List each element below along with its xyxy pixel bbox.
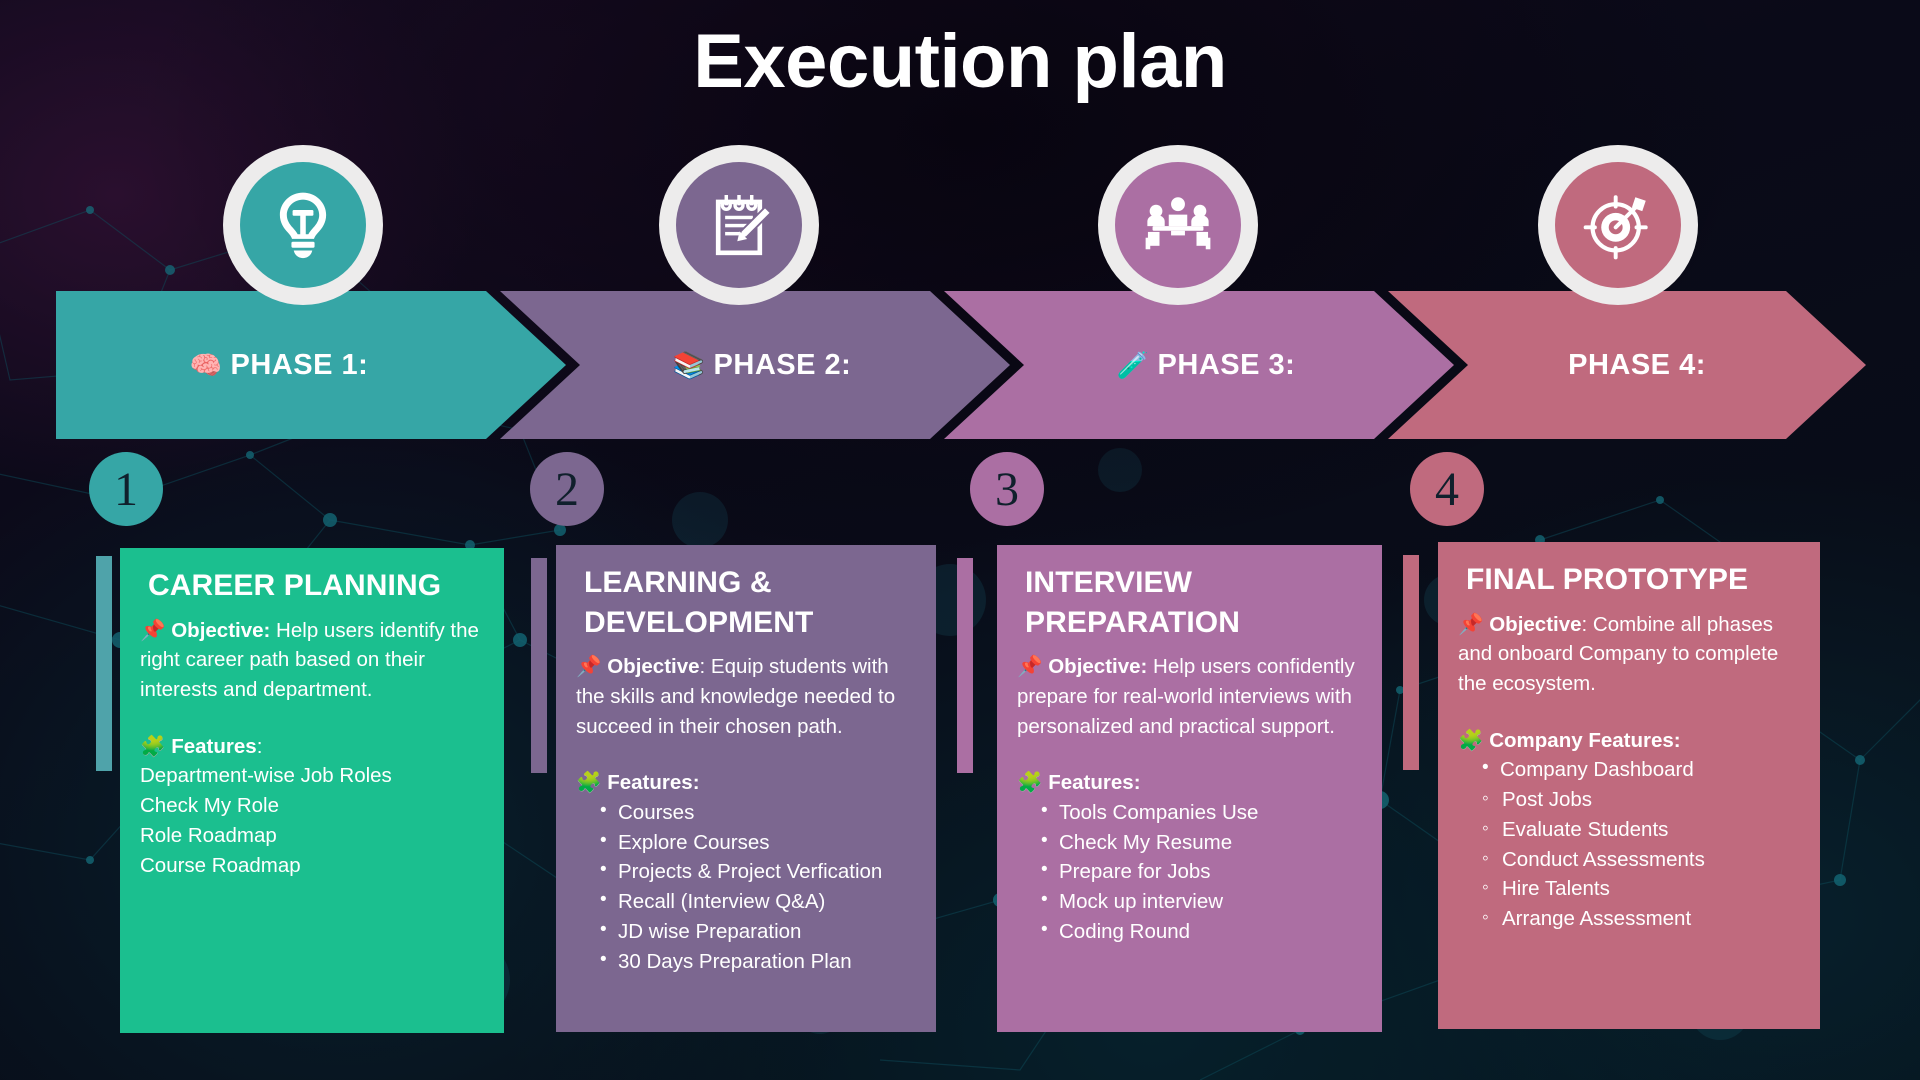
- card-features-head-4: 🧩 Company Features:: [1458, 727, 1800, 756]
- card-feature-list-1: Department-wise Job Roles Check My Role …: [140, 761, 484, 880]
- list-item: Coding Round: [1039, 917, 1362, 947]
- card-tab-3: [957, 558, 973, 773]
- card-objective-3: 📌 Objective: Help users confidently prep…: [1017, 652, 1362, 741]
- list-item: Tools Companies Use: [1039, 798, 1362, 828]
- puzzle-piece-icon: 🧩: [1458, 727, 1484, 756]
- page-title: Execution plan: [0, 18, 1920, 105]
- phase-arrow-label-4: PHASE 4:: [1388, 349, 1866, 382]
- card-3[interactable]: INTERVIEW PREPARATION 📌 Objective: Help …: [997, 545, 1382, 1032]
- list-item: Post Jobs: [1482, 785, 1800, 815]
- list-item: Evaluate Students: [1482, 815, 1800, 845]
- pushpin-icon: 📌: [1458, 610, 1484, 640]
- card-4[interactable]: FINAL PROTOTYPE 📌 Objective: Combine all…: [1438, 542, 1820, 1029]
- features-label-3: Features:: [1048, 771, 1140, 794]
- meeting-table-icon: [1141, 188, 1215, 262]
- list-item: Department-wise Job Roles: [140, 761, 484, 791]
- features-label-4: Company Features:: [1489, 729, 1680, 752]
- list-item: Course Roadmap: [140, 851, 484, 881]
- phase-arrow-4[interactable]: PHASE 4:: [1388, 291, 1866, 439]
- card-tab-4: [1403, 555, 1419, 770]
- features-label-suffix-1: :: [257, 735, 263, 758]
- phase-icon-circle-1: [223, 145, 383, 305]
- card-tab-2: [531, 558, 547, 773]
- card-subfeature-list-4: Post Jobs Evaluate Students Conduct Asse…: [1458, 785, 1800, 934]
- pushpin-icon: 📌: [576, 652, 602, 682]
- list-item: Check My Resume: [1039, 828, 1362, 858]
- objective-label-2: Objective: [607, 655, 699, 678]
- card-2[interactable]: LEARNING & DEVELOPMENT 📌 Objective: Equi…: [556, 545, 936, 1032]
- card-title-1: CAREER PLANNING: [148, 566, 484, 606]
- list-item: Courses: [598, 798, 916, 828]
- phase-arrow-3[interactable]: 🧪PHASE 3:: [944, 291, 1454, 439]
- list-item: Recall (Interview Q&A): [598, 887, 916, 917]
- phase-arrow-label-1: 🧠PHASE 1:: [56, 349, 566, 382]
- card-objective-2: 📌 Objective: Equip students with the ski…: [576, 652, 916, 741]
- test-tube-icon: 🧪: [1117, 350, 1150, 381]
- pushpin-icon: 📌: [1017, 652, 1043, 682]
- books-icon: 📚: [673, 350, 706, 381]
- phase-arrow-label-3: 🧪PHASE 3:: [944, 349, 1454, 382]
- phase-arrow-banner: 🧠PHASE 1: 📚PHASE 2: 🧪PHASE 3: PHASE 4:: [56, 291, 1866, 439]
- list-item: Check My Role: [140, 791, 484, 821]
- step-number-2: 2: [530, 452, 604, 526]
- list-item: JD wise Preparation: [598, 917, 916, 947]
- list-item: Company Dashboard: [1480, 755, 1800, 785]
- list-item: 30 Days Preparation Plan: [598, 947, 916, 977]
- lightbulb-icon: [266, 188, 340, 262]
- features-label-1: Features: [171, 735, 256, 758]
- notepad-pencil-icon: [702, 188, 776, 262]
- puzzle-piece-icon: 🧩: [576, 769, 602, 798]
- list-item: Explore Courses: [598, 828, 916, 858]
- list-item: Prepare for Jobs: [1039, 857, 1362, 887]
- card-features-head-3: 🧩 Features:: [1017, 769, 1362, 798]
- card-title-2: LEARNING & DEVELOPMENT: [584, 563, 916, 642]
- objective-label-3: Objective:: [1048, 655, 1147, 678]
- card-1[interactable]: CAREER PLANNING 📌 Objective: Help users …: [120, 548, 504, 1033]
- puzzle-piece-icon: 🧩: [140, 733, 166, 762]
- card-feature-list-3: Tools Companies Use Check My Resume Prep…: [1017, 798, 1362, 947]
- phase-icon-circle-3: [1098, 145, 1258, 305]
- target-dart-icon: [1581, 188, 1655, 262]
- list-item: Mock up interview: [1039, 887, 1362, 917]
- card-title-3: INTERVIEW PREPARATION: [1025, 563, 1362, 642]
- puzzle-piece-icon: 🧩: [1017, 769, 1043, 798]
- objective-label-4: Objective: [1489, 613, 1581, 636]
- phase-icon-circle-2: [659, 145, 819, 305]
- list-item: Role Roadmap: [140, 821, 484, 851]
- card-features-head-2: 🧩 Features:: [576, 769, 916, 798]
- features-label-2: Features:: [607, 771, 699, 794]
- card-features-head-1: 🧩 Features:: [140, 733, 484, 762]
- step-number-1: 1: [89, 452, 163, 526]
- step-number-4: 4: [1410, 452, 1484, 526]
- card-title-4: FINAL PROTOTYPE: [1466, 560, 1800, 600]
- card-objective-1: 📌 Objective: Help users identify the rig…: [140, 616, 484, 705]
- card-feature-list-4: Company Dashboard: [1458, 755, 1800, 785]
- card-tab-1: [96, 556, 112, 771]
- phase-arrow-1[interactable]: 🧠PHASE 1:: [56, 291, 566, 439]
- objective-label-1: Objective:: [171, 619, 270, 642]
- phase-arrow-label-2: 📚PHASE 2:: [500, 349, 1010, 382]
- phase-arrow-2[interactable]: 📚PHASE 2:: [500, 291, 1010, 439]
- list-item: Hire Talents: [1482, 874, 1800, 904]
- step-number-3: 3: [970, 452, 1044, 526]
- pushpin-icon: 📌: [140, 616, 166, 646]
- card-objective-4: 📌 Objective: Combine all phases and onbo…: [1458, 610, 1800, 699]
- list-item: Conduct Assessments: [1482, 845, 1800, 875]
- list-item: Arrange Assessment: [1482, 904, 1800, 934]
- list-item: Projects & Project Verfication: [598, 857, 916, 887]
- brain-icon: 🧠: [190, 350, 223, 381]
- card-feature-list-2: Courses Explore Courses Projects & Proje…: [576, 798, 916, 976]
- phase-icon-circle-4: [1538, 145, 1698, 305]
